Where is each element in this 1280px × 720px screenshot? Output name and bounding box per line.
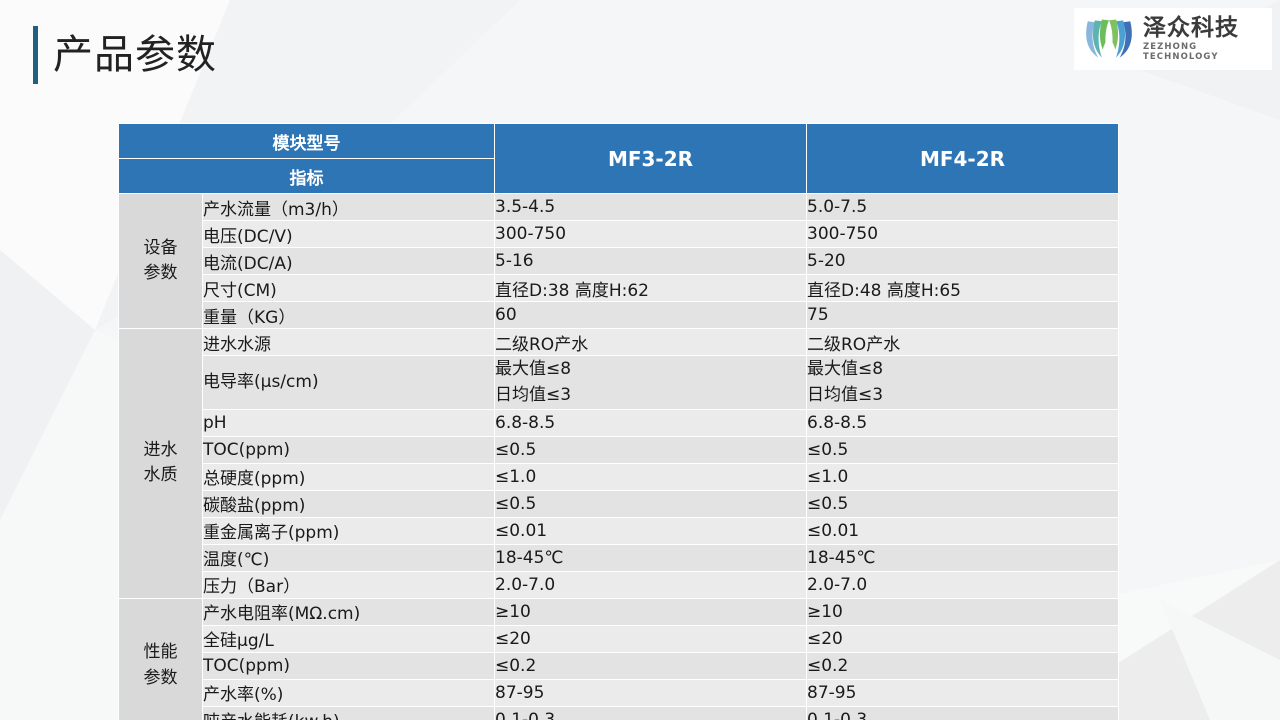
column-header-mf4: MF4-2R <box>807 124 1119 194</box>
cell-mf3: 300-750 <box>495 221 807 248</box>
cell-line: 日均值≤3 <box>807 382 1118 408</box>
table-row: 碳酸盐(ppm) ≤0.5 ≤0.5 <box>119 490 1119 517</box>
row-item-label: TOC(ppm) <box>203 652 495 679</box>
cell-mf4: 5-20 <box>807 248 1119 275</box>
cell-mf4: 最大值≤8 日均值≤3 <box>807 356 1119 410</box>
table-row: 吨产水能耗(kw.h) 0.1-0.3 0.1-0.3 <box>119 706 1119 720</box>
row-item-label: 吨产水能耗(kw.h) <box>203 706 495 720</box>
table-row: 性能 参数 产水电阻率(MΩ.cm) ≥10 ≥10 <box>119 598 1119 625</box>
cell-mf3: 2.0-7.0 <box>495 571 807 598</box>
logo-name-cn: 泽众科技 <box>1143 16 1272 40</box>
group-label-line: 参数 <box>119 666 202 692</box>
product-spec-table: 模块型号 MF3-2R MF4-2R 指标 设备 参数 产水流量（m3/h） 3… <box>118 123 1119 720</box>
row-item-label: 产水率(%) <box>203 679 495 706</box>
title-accent-bar <box>33 26 38 84</box>
logo-name-en: ZEZHONG TECHNOLOGY <box>1143 42 1272 62</box>
cell-mf4: 0.1-0.3 <box>807 706 1119 720</box>
cell-mf3: 18-45℃ <box>495 544 807 571</box>
cell-mf4: 直径D:48 高度H:65 <box>807 275 1119 302</box>
table-row: pH 6.8-8.5 6.8-8.5 <box>119 409 1119 436</box>
cell-mf3: ≤0.01 <box>495 517 807 544</box>
cell-mf3: ≤20 <box>495 625 807 652</box>
cell-mf3: 最大值≤8 日均值≤3 <box>495 356 807 410</box>
table-head: 模块型号 MF3-2R MF4-2R 指标 <box>119 124 1119 194</box>
table-row: 进水 水质 进水水源 二级RO产水 二级RO产水 <box>119 329 1119 356</box>
row-item-label: 尺寸(CM) <box>203 275 495 302</box>
row-item-label: TOC(ppm) <box>203 436 495 463</box>
table-row: 尺寸(CM) 直径D:38 高度H:62 直径D:48 高度H:65 <box>119 275 1119 302</box>
row-item-label: 产水流量（m3/h） <box>203 194 495 221</box>
cell-mf3: ≤0.5 <box>495 490 807 517</box>
table-row: 重量（KG） 60 75 <box>119 302 1119 329</box>
group-label-equipment: 设备 参数 <box>119 194 203 329</box>
table-row: TOC(ppm) ≤0.5 ≤0.5 <box>119 436 1119 463</box>
row-item-label: 电压(DC/V) <box>203 221 495 248</box>
cell-mf4: 87-95 <box>807 679 1119 706</box>
cell-mf4: 2.0-7.0 <box>807 571 1119 598</box>
row-item-label: 全硅μg/L <box>203 625 495 652</box>
cell-mf3: ≤0.5 <box>495 436 807 463</box>
cell-mf3: 60 <box>495 302 807 329</box>
group-label-line: 参数 <box>119 261 202 287</box>
table-row: 重金属离子(ppm) ≤0.01 ≤0.01 <box>119 517 1119 544</box>
cell-mf4: 18-45℃ <box>807 544 1119 571</box>
group-label-line: 水质 <box>119 463 202 489</box>
table-row: 电压(DC/V) 300-750 300-750 <box>119 221 1119 248</box>
cell-mf4: 二级RO产水 <box>807 329 1119 356</box>
header-row-model: 模块型号 MF3-2R MF4-2R <box>119 124 1119 159</box>
table-row: 总硬度(ppm) ≤1.0 ≤1.0 <box>119 463 1119 490</box>
row-item-label: pH <box>203 409 495 436</box>
table-row: 电导率(μs/cm) 最大值≤8 日均值≤3 最大值≤8 日均值≤3 <box>119 356 1119 410</box>
spec-table-container: 模块型号 MF3-2R MF4-2R 指标 设备 参数 产水流量（m3/h） 3… <box>118 123 1118 720</box>
cell-mf4: ≤1.0 <box>807 463 1119 490</box>
row-item-label: 电导率(μs/cm) <box>203 356 495 410</box>
cell-mf3: 二级RO产水 <box>495 329 807 356</box>
cell-mf4: 5.0-7.5 <box>807 194 1119 221</box>
table-row: TOC(ppm) ≤0.2 ≤0.2 <box>119 652 1119 679</box>
table-row: 设备 参数 产水流量（m3/h） 3.5-4.5 5.0-7.5 <box>119 194 1119 221</box>
cell-mf3: ≤1.0 <box>495 463 807 490</box>
cell-mf4: ≤0.2 <box>807 652 1119 679</box>
cell-mf3: 0.1-0.3 <box>495 706 807 720</box>
company-logo: 泽众科技 ZEZHONG TECHNOLOGY <box>1074 8 1272 70</box>
row-item-label: 电流(DC/A) <box>203 248 495 275</box>
cell-mf3: 87-95 <box>495 679 807 706</box>
cell-mf3: 3.5-4.5 <box>495 194 807 221</box>
cell-mf4: 6.8-8.5 <box>807 409 1119 436</box>
cell-line: 最大值≤8 <box>807 356 1118 382</box>
row-item-label: 压力（Bar） <box>203 571 495 598</box>
cell-mf4: ≤20 <box>807 625 1119 652</box>
leaf-droplet-icon <box>1082 16 1136 62</box>
row-item-label: 产水电阻率(MΩ.cm) <box>203 598 495 625</box>
page-title: 产品参数 <box>33 26 217 84</box>
column-header-mf3: MF3-2R <box>495 124 807 194</box>
row-item-label: 温度(℃) <box>203 544 495 571</box>
table-row: 全硅μg/L ≤20 ≤20 <box>119 625 1119 652</box>
table-row: 电流(DC/A) 5-16 5-20 <box>119 248 1119 275</box>
slide-canvas: 产品参数 泽众科技 ZEZHONG TECHNOLOGY 模块型号 M <box>0 0 1280 720</box>
cell-mf3: 直径D:38 高度H:62 <box>495 275 807 302</box>
cell-mf4: ≤0.5 <box>807 436 1119 463</box>
group-label-line: 性能 <box>119 640 202 666</box>
cell-mf3: 6.8-8.5 <box>495 409 807 436</box>
cell-mf4: ≤0.01 <box>807 517 1119 544</box>
cell-mf3: ≥10 <box>495 598 807 625</box>
title-text: 产品参数 <box>53 35 217 75</box>
cell-line: 最大值≤8 <box>495 356 806 382</box>
group-label-feedwater: 进水 水质 <box>119 329 203 599</box>
row-item-label: 总硬度(ppm) <box>203 463 495 490</box>
table-body: 设备 参数 产水流量（m3/h） 3.5-4.5 5.0-7.5 电压(DC/V… <box>119 194 1119 720</box>
cell-mf4: ≥10 <box>807 598 1119 625</box>
table-row: 产水率(%) 87-95 87-95 <box>119 679 1119 706</box>
cell-line: 日均值≤3 <box>495 382 806 408</box>
header-index-label: 指标 <box>119 159 495 194</box>
table-row: 温度(℃) 18-45℃ 18-45℃ <box>119 544 1119 571</box>
cell-mf3: ≤0.2 <box>495 652 807 679</box>
group-label-line: 设备 <box>119 236 202 262</box>
cell-mf4: 300-750 <box>807 221 1119 248</box>
cell-mf3: 5-16 <box>495 248 807 275</box>
cell-mf4: 75 <box>807 302 1119 329</box>
cell-mf4: ≤0.5 <box>807 490 1119 517</box>
group-label-performance: 性能 参数 <box>119 598 203 720</box>
row-item-label: 重量（KG） <box>203 302 495 329</box>
table-row: 压力（Bar） 2.0-7.0 2.0-7.0 <box>119 571 1119 598</box>
row-item-label: 重金属离子(ppm) <box>203 517 495 544</box>
logo-text: 泽众科技 ZEZHONG TECHNOLOGY <box>1143 16 1272 62</box>
row-item-label: 进水水源 <box>203 329 495 356</box>
group-label-line: 进水 <box>119 438 202 464</box>
row-item-label: 碳酸盐(ppm) <box>203 490 495 517</box>
header-model-label: 模块型号 <box>119 124 495 159</box>
